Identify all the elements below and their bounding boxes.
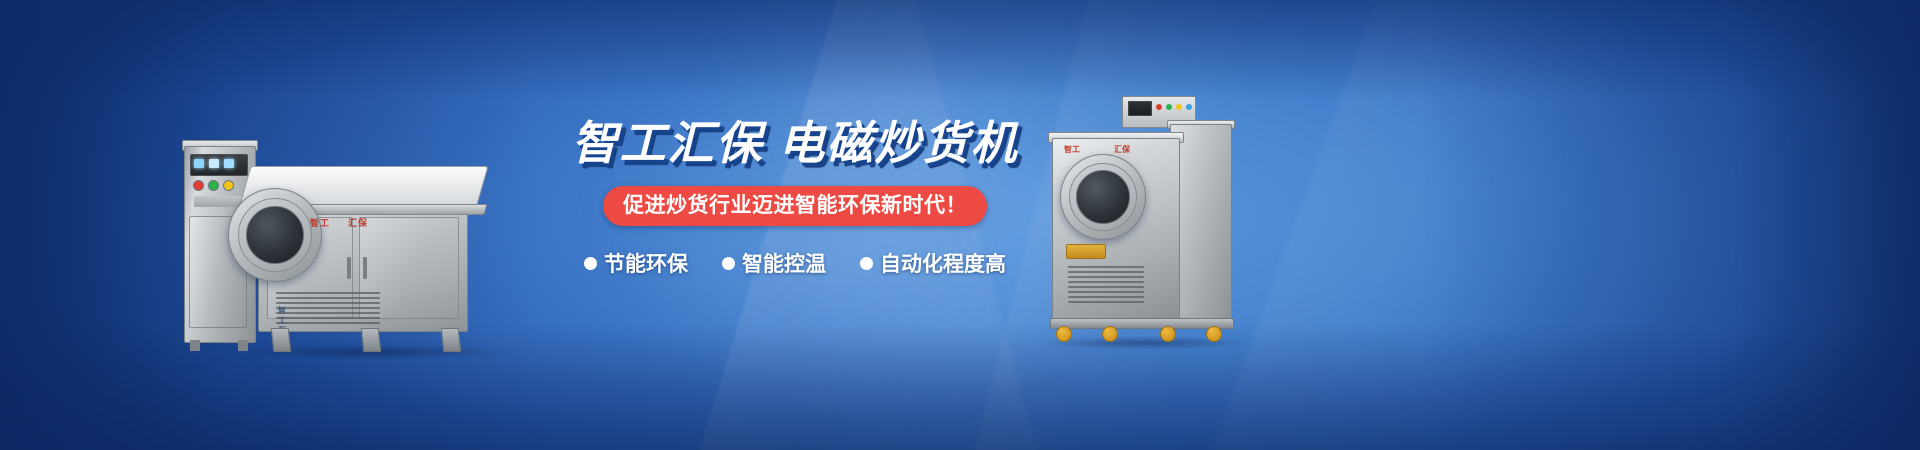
right-machine-name-plate [1066, 244, 1106, 259]
left-machine-drum-opening [246, 206, 304, 264]
product-image-left-machine: 智工 汇保 智工汇保 [180, 96, 550, 351]
feature-label-1: 节能环保 [604, 248, 688, 278]
left-machine-cabinet-foot-1 [190, 340, 200, 351]
banner-feature-list: 节能环保 智能控温 自动化程度高 [560, 248, 1030, 278]
left-machine-brand-left: 智工 [310, 216, 330, 229]
right-machine-caster-4-icon [1206, 326, 1222, 342]
right-machine-display-screen [1128, 101, 1152, 116]
right-machine-base [1050, 318, 1234, 329]
left-machine-handle-1 [347, 257, 351, 279]
right-machine-indicator-yellow-icon [1176, 104, 1182, 110]
right-machine-indicator-green-icon [1166, 104, 1172, 110]
left-machine-handle-2 [363, 257, 367, 279]
bullet-dot-icon [584, 257, 597, 270]
feature-item-2: 智能控温 [722, 248, 826, 278]
left-machine-indicator-1-icon [194, 159, 204, 168]
bullet-dot-icon [860, 257, 873, 270]
left-machine-leg-1 [271, 328, 292, 352]
left-machine-indicator-3-icon [224, 159, 234, 168]
banner-title: 智工汇保 电磁炒货机 [560, 120, 1030, 166]
left-machine-indicator-2-icon [209, 159, 219, 168]
left-machine-cabinet-label [194, 196, 242, 207]
right-machine-caster-3-icon [1160, 326, 1176, 342]
feature-label-3: 自动化程度高 [880, 248, 1006, 278]
banner-slogan-badge: 促进炒货行业迈进智能环保新时代！ [603, 186, 987, 226]
promo-banner: 智工 汇保 智工汇保 智工汇保 电磁炒货机 促进炒货行业迈进智能环保新时代！ 节… [0, 0, 1920, 450]
right-machine-caster-2-icon [1102, 326, 1118, 342]
left-machine-knob-green-icon [208, 180, 219, 191]
right-machine-brand-left: 智工 [1064, 144, 1080, 155]
feature-label-2: 智能控温 [742, 248, 826, 278]
feature-item-1: 节能环保 [584, 248, 688, 278]
feature-item-3: 自动化程度高 [860, 248, 1006, 278]
banner-badge-wrap: 促进炒货行业迈进智能环保新时代！ [560, 186, 1030, 226]
left-machine-leg-2 [361, 328, 382, 352]
right-machine-brand-right: 汇保 [1114, 144, 1130, 155]
right-machine-drum-opening [1076, 170, 1130, 224]
right-machine-indicator-blue-icon [1186, 104, 1192, 110]
left-machine-leg-3 [441, 328, 462, 352]
left-machine-knob-red-icon [193, 180, 204, 191]
right-machine-vent-grille [1068, 266, 1144, 306]
left-machine-cabinet-foot-2 [238, 340, 248, 351]
banner-copy-block: 智工汇保 电磁炒货机 促进炒货行业迈进智能环保新时代！ 节能环保 智能控温 自动… [560, 120, 1030, 278]
left-machine-brand-right: 汇保 [348, 216, 368, 229]
bullet-dot-icon [722, 257, 735, 270]
left-machine-knob-yellow-icon [223, 180, 234, 191]
right-machine-indicator-red-icon [1156, 104, 1162, 110]
left-machine-vent-grille [276, 292, 380, 326]
right-machine-caster-1-icon [1056, 326, 1072, 342]
product-image-right-machine: 智工 汇保 [1030, 96, 1260, 351]
